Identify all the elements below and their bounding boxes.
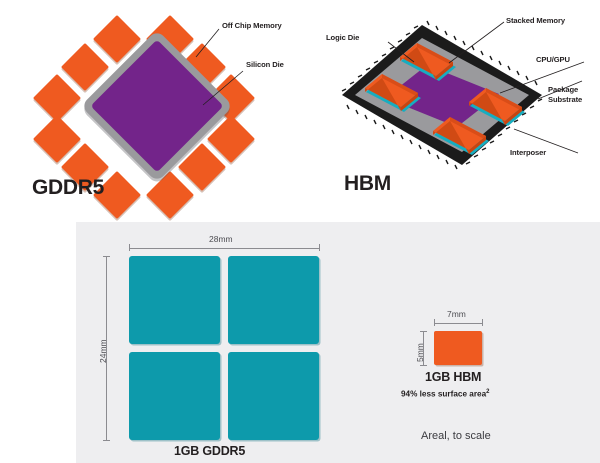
hbm-width-tick-right	[482, 319, 483, 326]
gddr5-scale-tile	[129, 256, 220, 344]
hbm-width-label: 7mm	[447, 309, 466, 319]
hbm-height-label: 5mm	[415, 343, 425, 362]
callout-stacked-memory: Stacked Memory	[506, 16, 565, 25]
gddr5-scale-caption: 1GB GDDR5	[174, 444, 245, 458]
callout-package-substrate-line2: Substrate	[548, 95, 582, 104]
hbm-diagram: Logic Die Stacked Memory CPU/GPU Package…	[310, 0, 600, 208]
gddr5-width-label: 28mm	[209, 234, 233, 244]
gddr5-width-dimension-line	[129, 248, 319, 249]
areal-scale-panel: 28mm 24mm 1GB GDDR5 7mm 5mm 1GB HBM 94% …	[76, 222, 600, 463]
gddr5-width-tick-right	[319, 244, 320, 251]
hbm-subcaption-text: 94% less surface area	[401, 390, 486, 399]
callout-logic-die: Logic Die	[326, 33, 359, 42]
callout-interposer: Interposer	[510, 148, 546, 157]
gddr5-scale-tile	[228, 352, 319, 440]
callout-off-chip-memory: Off Chip Memory	[222, 21, 282, 30]
callout-package-substrate-line1: Package	[548, 85, 578, 94]
hbm-width-tick-left	[434, 319, 435, 326]
hbm-width-dimension-line	[434, 323, 482, 324]
gddr5-height-tick-top	[103, 256, 110, 257]
hbm-subcaption-footnote-marker: 2	[486, 389, 489, 395]
hbm-scale-caption: 1GB HBM	[425, 370, 481, 384]
hbm-scale-subcaption: 94% less surface area2	[401, 389, 489, 399]
gddr5-scale-tile	[129, 352, 220, 440]
gddr5-title: GDDR5	[32, 176, 104, 200]
hbm-height-tick-top	[420, 331, 427, 332]
hbm-scale-tile	[434, 331, 482, 365]
areal-to-scale-note: Areal, to scale	[421, 430, 491, 442]
hbm-title: HBM	[344, 172, 391, 196]
gddr5-height-label: 24mm	[98, 339, 108, 363]
gddr5-width-tick-left	[129, 244, 130, 251]
callout-cpu-gpu: CPU/GPU	[536, 55, 570, 64]
gddr5-scale-tile	[228, 256, 319, 344]
gddr5-height-tick-bottom	[103, 440, 110, 441]
callout-silicon-die: Silicon Die	[246, 60, 284, 69]
hbm-height-tick-bottom	[420, 365, 427, 366]
gddr5-diagram: Off Chip Memory Silicon Die GDDR5	[0, 0, 310, 208]
